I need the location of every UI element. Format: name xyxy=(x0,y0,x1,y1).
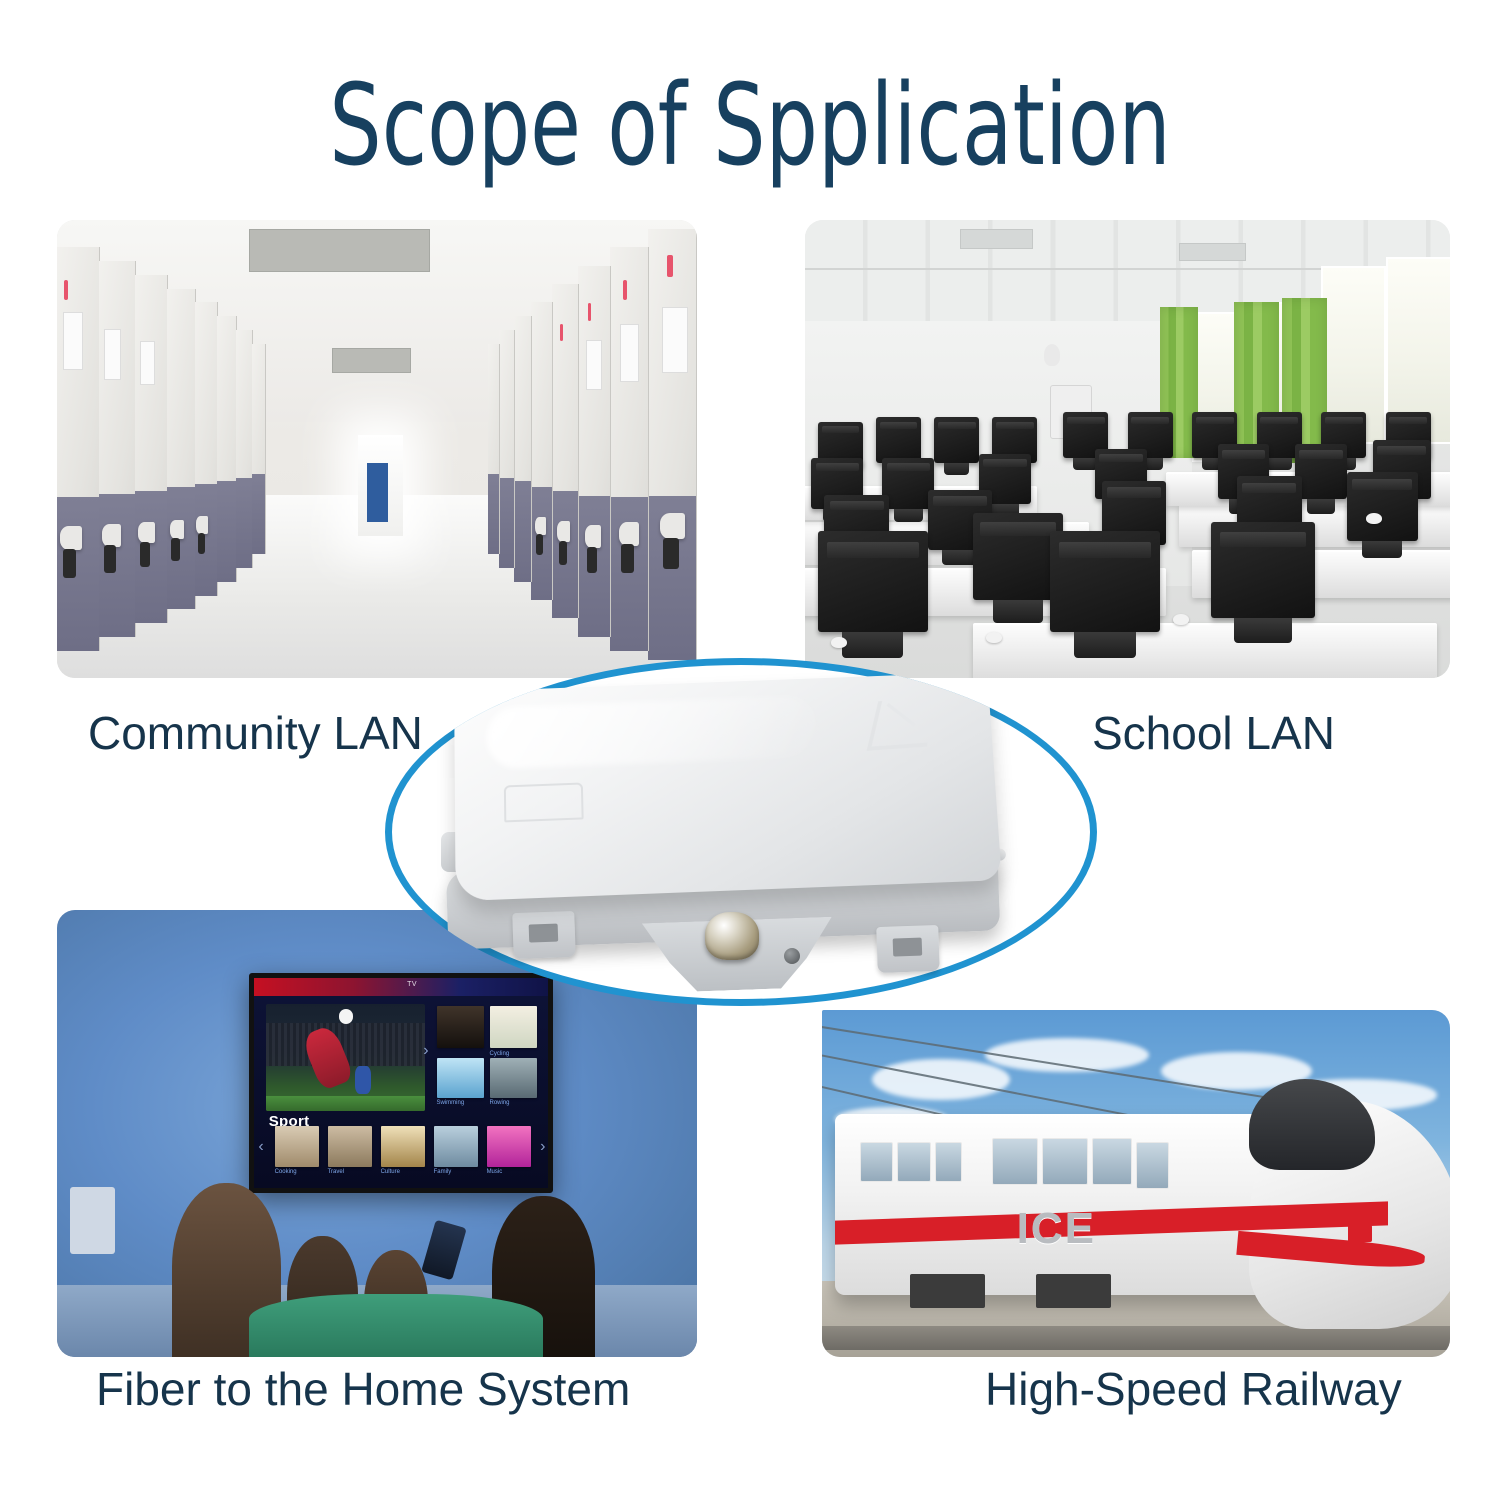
train-ice: ICE xyxy=(822,1010,1450,1357)
photo-community-lan xyxy=(57,220,697,678)
television: TV Sport Cycling Swimming Rowing xyxy=(249,973,553,1193)
tv-brand-label: TV xyxy=(407,981,417,988)
tv-tile-label-cooking: Cooking xyxy=(275,1169,297,1175)
caption-fiber-to-the-home: Fiber to the Home System xyxy=(96,1362,630,1416)
photo-school-lan xyxy=(805,220,1450,678)
brand-emboss-icon xyxy=(866,697,937,751)
tv-tile-label-culture: Culture xyxy=(381,1169,400,1175)
caption-community-lan: Community LAN xyxy=(88,706,423,760)
tv-tile-label-cycling: Cycling xyxy=(490,1051,510,1057)
tv-tile-label-music: Music xyxy=(487,1169,503,1175)
tv-hero-arrow-icon: › xyxy=(423,1042,428,1060)
lock-icon xyxy=(705,912,759,960)
tv-right-arrow-icon: › xyxy=(540,1138,545,1156)
tv-hero-tile xyxy=(266,1004,425,1111)
tv-left-arrow-icon: ‹ xyxy=(258,1138,263,1156)
infographic-canvas: Scope of Spplication xyxy=(0,0,1500,1500)
page-title: Scope of Spplication xyxy=(135,62,1365,191)
product-image-container xyxy=(385,658,1097,1006)
tv-tile-label-swimming: Swimming xyxy=(437,1100,465,1106)
photo-high-speed-railway: ICE xyxy=(822,1010,1450,1357)
fiber-optic-terminal-box xyxy=(447,680,1002,980)
persons-green-sweater xyxy=(249,1294,543,1357)
tv-tile-label-rowing: Rowing xyxy=(490,1100,510,1106)
screw-icon xyxy=(784,948,800,964)
tv-tile-label-family: Family xyxy=(434,1169,452,1175)
caption-school-lan: School LAN xyxy=(1092,706,1335,760)
train-marking-label: ICE xyxy=(1017,1204,1096,1254)
caption-high-speed-railway: High-Speed Railway xyxy=(985,1362,1402,1416)
cabinet-bank-left xyxy=(57,220,377,678)
tv-tile-label-travel: Travel xyxy=(328,1169,344,1175)
cabinet-bank-right xyxy=(377,220,697,678)
